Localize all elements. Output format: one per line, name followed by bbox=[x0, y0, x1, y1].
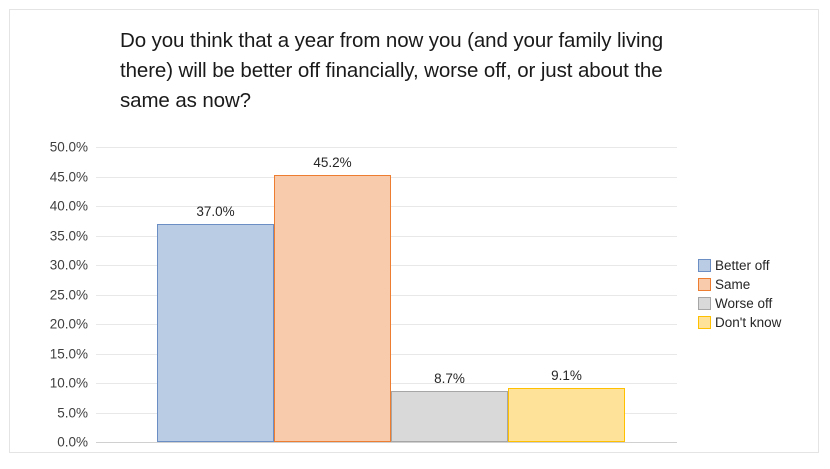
legend-item-label: Better off bbox=[715, 258, 770, 273]
gridline bbox=[96, 147, 677, 148]
legend-item-label: Don't know bbox=[715, 315, 781, 330]
chart-container: Do you think that a year from now you (a… bbox=[9, 9, 819, 453]
bar-worse-off[interactable] bbox=[391, 391, 508, 442]
bar-data-label: 37.0% bbox=[157, 204, 274, 219]
bar-better-off[interactable] bbox=[157, 224, 274, 442]
legend-swatch-icon bbox=[698, 297, 711, 310]
chart-title: Do you think that a year from now you (a… bbox=[120, 26, 710, 116]
legend-item[interactable]: Same bbox=[698, 275, 818, 294]
axis-baseline bbox=[96, 442, 677, 443]
y-axis-tick-label: 45.0% bbox=[28, 169, 88, 184]
legend-swatch-icon bbox=[698, 259, 711, 272]
bar-data-label: 45.2% bbox=[274, 155, 391, 170]
legend-item-label: Worse off bbox=[715, 296, 772, 311]
plot-area: 37.0%45.2%8.7%9.1% bbox=[96, 147, 677, 442]
bar-don-t-know[interactable] bbox=[508, 388, 625, 442]
legend-item[interactable]: Worse off bbox=[698, 294, 818, 313]
y-axis-tick-label: 5.0% bbox=[28, 405, 88, 420]
y-axis-tick-label: 25.0% bbox=[28, 287, 88, 302]
y-axis-tick-label: 15.0% bbox=[28, 346, 88, 361]
legend-item-label: Same bbox=[715, 277, 750, 292]
legend-swatch-icon bbox=[698, 278, 711, 291]
y-axis-tick-label: 20.0% bbox=[28, 317, 88, 332]
bar-data-label: 8.7% bbox=[391, 371, 508, 386]
bar-data-label: 9.1% bbox=[508, 368, 625, 383]
y-axis-tick-label: 50.0% bbox=[28, 140, 88, 155]
legend: Better offSameWorse offDon't know bbox=[698, 256, 818, 332]
legend-item[interactable]: Don't know bbox=[698, 313, 818, 332]
bar-same[interactable] bbox=[274, 175, 391, 442]
y-axis-tick-label: 10.0% bbox=[28, 376, 88, 391]
legend-swatch-icon bbox=[698, 316, 711, 329]
y-axis-tick-label: 30.0% bbox=[28, 258, 88, 273]
y-axis: 50.0%45.0%40.0%35.0%30.0%25.0%20.0%15.0%… bbox=[24, 147, 88, 442]
y-axis-tick-label: 35.0% bbox=[28, 228, 88, 243]
legend-item[interactable]: Better off bbox=[698, 256, 818, 275]
y-axis-tick-label: 0.0% bbox=[28, 435, 88, 450]
y-axis-tick-label: 40.0% bbox=[28, 199, 88, 214]
